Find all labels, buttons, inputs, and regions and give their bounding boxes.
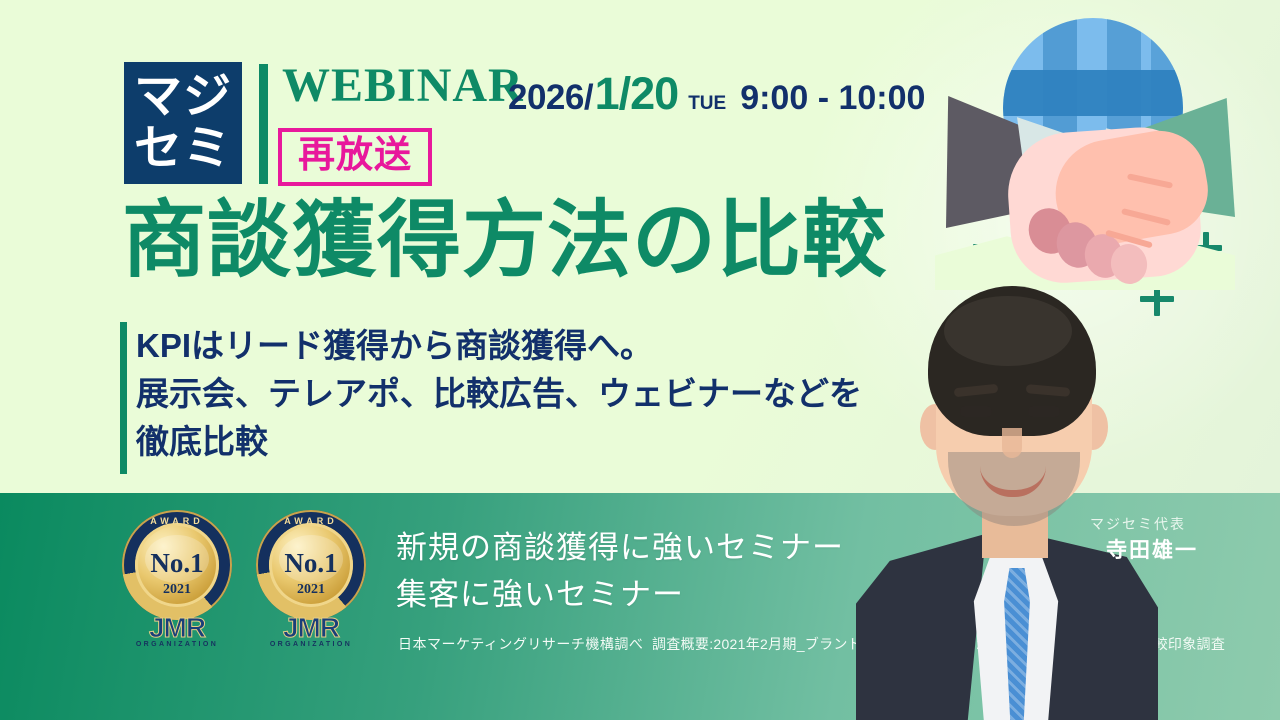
band-copy: 新規の商談獲得に強いセミナー 集客に強いセミナー xyxy=(396,524,844,618)
medal-year-label: 2021 xyxy=(118,582,236,598)
subtitle-accent-bar xyxy=(120,322,127,474)
medal-award-label: AWARD xyxy=(252,516,370,526)
medal-year-label: 2021 xyxy=(252,582,370,598)
jmr-logo: JMR xyxy=(252,612,370,644)
handshake-globe-illustration xyxy=(935,18,1235,288)
eye-right xyxy=(1028,406,1060,417)
survey-source-note: 日本マーケティングリサーチ機構調べ xyxy=(398,634,643,654)
subtitle-line-3: 徹底比較 xyxy=(136,418,862,466)
schedule-year: 2026 xyxy=(508,78,584,118)
presenter-role: マジセミ代表 xyxy=(1090,514,1186,534)
jacket-left xyxy=(856,526,986,720)
band-copy-line-2: 集客に強いセミナー xyxy=(396,571,844,618)
hair xyxy=(928,286,1096,436)
schedule-month-day: 1/20 xyxy=(595,68,679,120)
subtitle-line-1: KPIはリード獲得から商談獲得へ。 xyxy=(136,322,862,370)
jmr-logo: JMR xyxy=(118,612,236,644)
logo-line-2: セミ xyxy=(134,125,232,173)
webinar-promo-poster: マジ セミ WEBINAR 2026 / 1/20 TUE 9:00 - 10:… xyxy=(0,0,1280,720)
schedule-time-range: 9:00 - 10:00 xyxy=(740,79,925,118)
header-divider-bar xyxy=(259,64,268,184)
schedule-weekday: TUE xyxy=(688,93,726,115)
schedule-separator: / xyxy=(584,78,594,118)
subtitle-block: KPIはリード獲得から商談獲得へ。 展示会、テレアポ、比較広告、ウェビナーなどを… xyxy=(136,322,862,466)
presenter-portrait xyxy=(842,276,1172,720)
award-medal-group: AWARD No.1 2021 JMR ORGANIZATION AWARD N… xyxy=(118,508,370,658)
medal-rank-label: No.1 xyxy=(118,548,236,579)
majisemi-logo: マジ セミ xyxy=(124,62,242,184)
rebroadcast-badge: 再放送 xyxy=(278,128,432,186)
award-medal: AWARD No.1 2021 JMR ORGANIZATION xyxy=(118,508,236,658)
webinar-label: WEBINAR xyxy=(282,62,524,110)
schedule-line: 2026 / 1/20 TUE 9:00 - 10:00 xyxy=(508,68,925,120)
eye-left xyxy=(960,406,992,417)
medal-rank-label: No.1 xyxy=(252,548,370,579)
subtitle-line-2: 展示会、テレアポ、比較広告、ウェビナーなどを xyxy=(136,370,862,418)
medal-award-label: AWARD xyxy=(118,516,236,526)
logo-line-1: マジ xyxy=(134,73,232,121)
band-copy-line-1: 新規の商談獲得に強いセミナー xyxy=(396,524,844,571)
jmr-organization-label: ORGANIZATION xyxy=(118,641,236,648)
presenter-name: 寺田雄一 xyxy=(1106,534,1198,564)
page-title: 商談獲得方法の比較 xyxy=(122,196,887,284)
award-medal: AWARD No.1 2021 JMR ORGANIZATION xyxy=(252,508,370,658)
nose xyxy=(1002,428,1022,458)
jmr-organization-label: ORGANIZATION xyxy=(252,641,370,648)
